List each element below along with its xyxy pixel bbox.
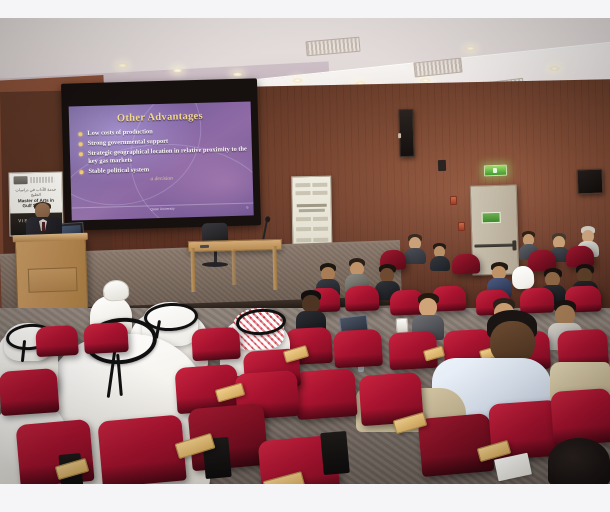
seat-side-panel: [320, 431, 350, 475]
auditorium-seat[interactable]: [0, 368, 59, 416]
seat-shadow: [334, 354, 383, 368]
audience-member: [430, 243, 450, 269]
slide-bullet: Strategic geographical location in relat…: [79, 146, 247, 166]
auditorium-seat[interactable]: [333, 329, 383, 368]
person-head: [555, 305, 575, 325]
poster-row: [295, 183, 327, 188]
audience-member: [296, 290, 326, 332]
fire-alarm-button[interactable]: [458, 222, 465, 231]
ceiling-downlight: [232, 72, 243, 77]
podium-lectern: [15, 236, 89, 313]
paper-cup: [396, 318, 409, 334]
seat-shadow: [101, 459, 187, 484]
seat-shadow: [345, 302, 379, 311]
poster-row: [296, 238, 328, 243]
poster-row: [295, 191, 327, 196]
poster-cell: [313, 227, 328, 231]
auditorium-seat[interactable]: [418, 413, 495, 477]
ceiling-downlight: [292, 78, 303, 83]
exit-sign-icon: [484, 165, 507, 177]
auditorium-seat[interactable]: [97, 414, 186, 484]
fire-alarm-button[interactable]: [450, 196, 457, 205]
slide-page-number: 6: [246, 206, 248, 210]
poster-cell: [295, 183, 310, 187]
projection-screen-frame: Other Advantages Low costs of production…: [61, 78, 261, 230]
auditorium-seat[interactable]: [294, 368, 357, 420]
banner-arabic-title: خدمة الآداب في دراسات الخليج: [13, 187, 59, 198]
auditorium-seat[interactable]: [83, 322, 129, 354]
table-object: [200, 245, 209, 248]
podium-top-surface: [13, 233, 88, 243]
person-torso: [404, 248, 426, 264]
poster-heading-arabic: [297, 204, 327, 208]
slide-footer-text: Qatar University: [72, 204, 254, 213]
poster-cell: [312, 191, 327, 195]
auditorium-seat[interactable]: [35, 325, 79, 357]
letterbox-top: [0, 0, 610, 18]
ceiling-downlight: [117, 63, 128, 68]
university-crest-icon: [14, 176, 28, 184]
poster-row: [296, 217, 328, 222]
poster-cell: [313, 238, 328, 242]
ceiling-downlight: [465, 46, 476, 51]
wall-sensor: [438, 160, 446, 171]
poster-cell: [295, 191, 310, 195]
attendee-kufi-cap: [102, 279, 129, 302]
audience-member-foreground: [548, 438, 610, 484]
push-bar-handle[interactable]: [474, 243, 515, 247]
poster-heading-english: [299, 209, 325, 212]
podium-logo-text: [29, 276, 76, 278]
ceiling-downlight: [172, 68, 183, 73]
photo-canvas: Other Advantages Low costs of production…: [0, 18, 610, 484]
auditorium-screenshot: Other Advantages Low costs of production…: [0, 0, 610, 512]
poster-cell: [296, 227, 311, 231]
projection-screen: Other Advantages Low costs of production…: [69, 101, 254, 220]
wall-speaker-tall: [398, 109, 414, 157]
podium-front-panel: [28, 267, 78, 293]
auditorium-seat[interactable]: [191, 327, 241, 361]
person-hair: [548, 438, 610, 484]
table-leg: [232, 249, 237, 285]
banner-logo-text: [31, 177, 55, 183]
poster-row: [296, 227, 328, 232]
ceiling-downlight: [549, 66, 560, 71]
poster-cell: [296, 238, 311, 242]
letterbox-bottom: [0, 484, 610, 512]
stage-chair-base: [202, 262, 228, 267]
wall-speaker-square: [577, 169, 604, 195]
poster-cell: [312, 183, 327, 187]
exit-door-plate-icon: [482, 212, 501, 224]
person-torso: [430, 256, 450, 271]
presenter-tie: [42, 222, 45, 231]
poster-cell: [313, 217, 328, 221]
poster-cell: [296, 217, 311, 221]
auditorium-seat[interactable]: [452, 254, 481, 275]
auditorium-seat[interactable]: [345, 285, 380, 311]
slide-bullet-list: Low costs of production Strong governmen…: [78, 126, 247, 179]
audience-member: [404, 234, 426, 262]
attendee-ghutra-headdress: [511, 265, 534, 289]
auditorium-seat[interactable]: [15, 419, 94, 484]
